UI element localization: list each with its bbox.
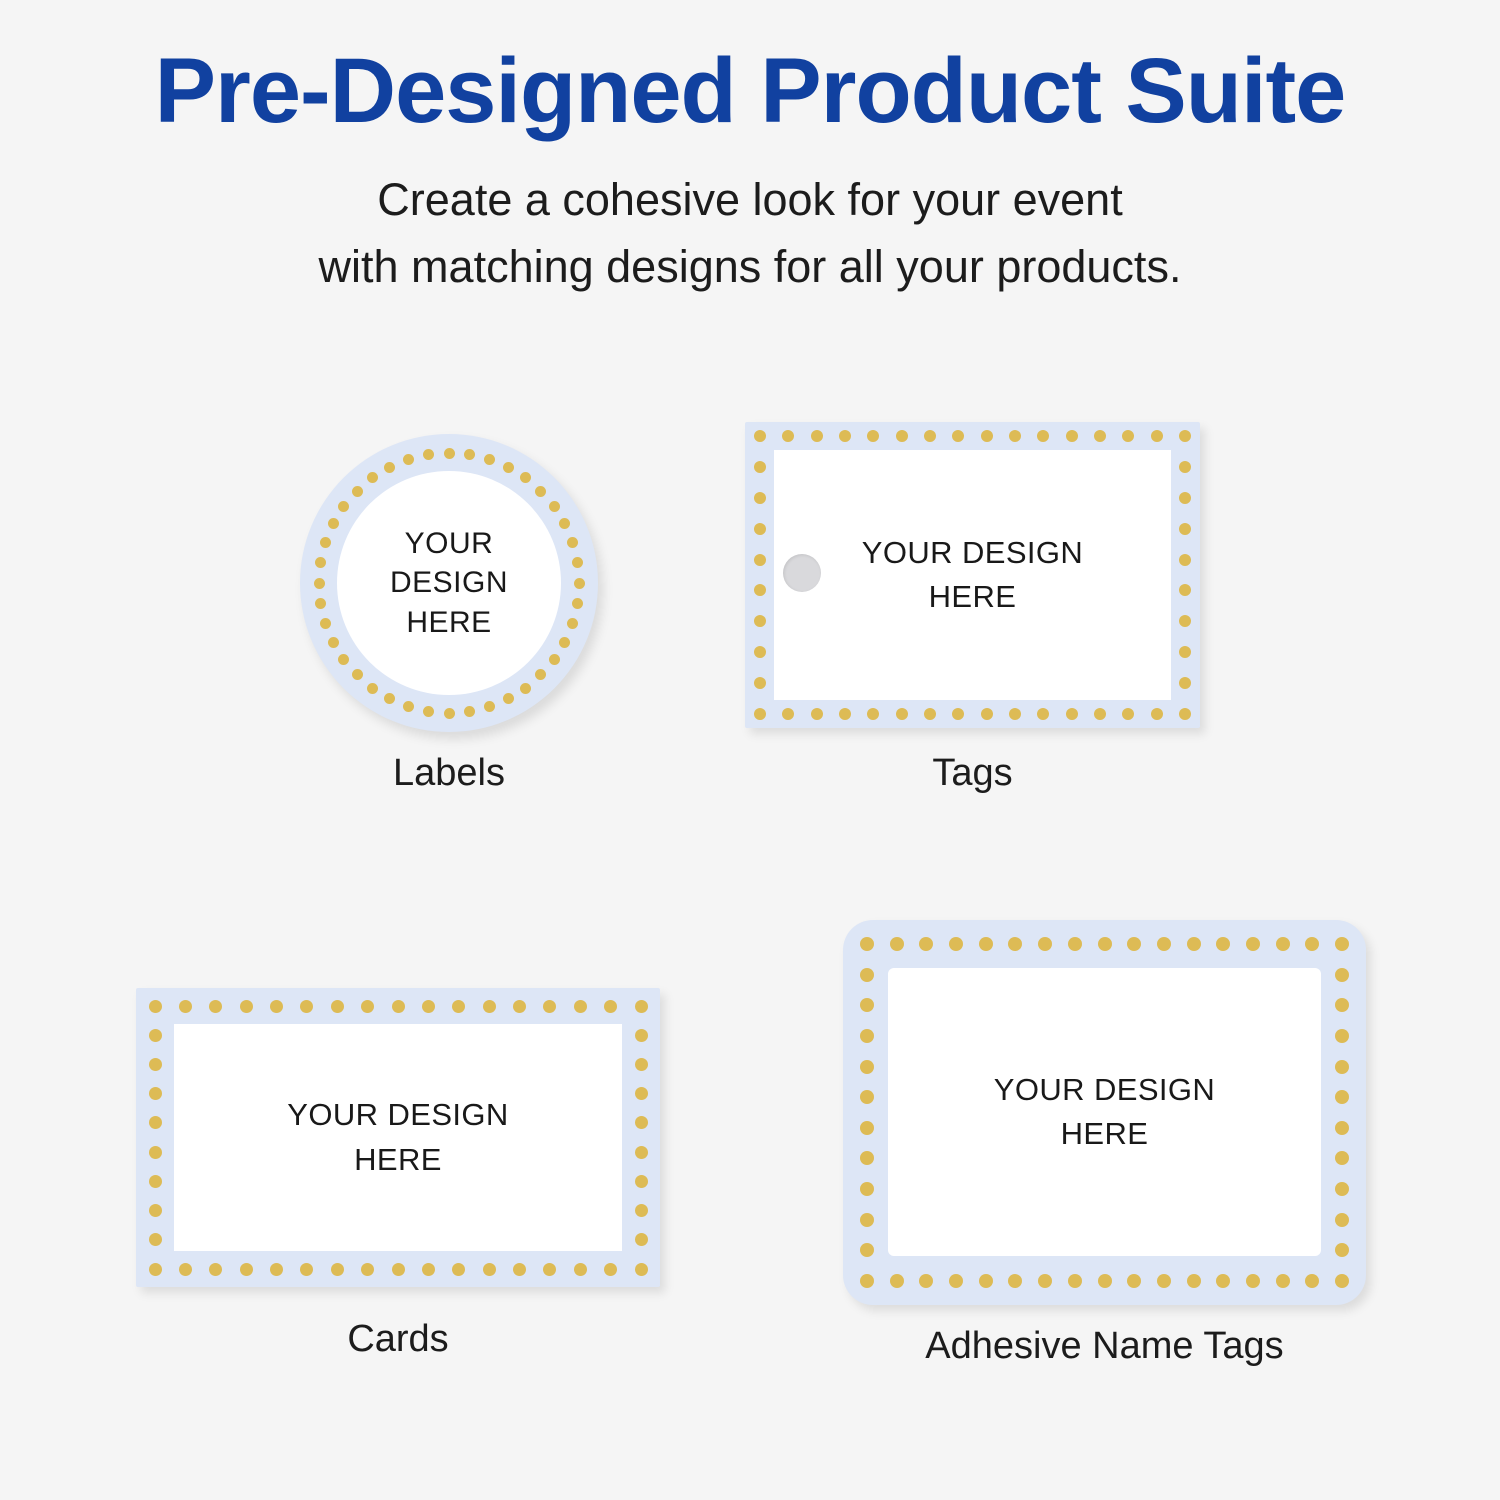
gold-dot-icon [361, 1263, 374, 1276]
gold-dot-icon [896, 430, 908, 442]
gold-dot-icon [1179, 492, 1191, 504]
gold-dot-icon [149, 1058, 162, 1071]
product-labels[interactable]: YOUR DESIGN HERE [300, 434, 598, 732]
gold-dot-icon [567, 618, 578, 629]
gold-dot-icon [1335, 937, 1349, 951]
gold-dot-icon [484, 454, 495, 465]
gold-dot-icon [1179, 461, 1191, 473]
gold-dot-icon [604, 1000, 617, 1013]
gold-dot-icon [574, 1263, 587, 1276]
gold-dot-icon [543, 1000, 556, 1013]
gold-dot-icon [754, 461, 766, 473]
gold-dot-icon [860, 1121, 874, 1135]
gold-dot-icon [811, 430, 823, 442]
gold-dot-icon [754, 677, 766, 689]
gold-dot-icon [979, 1274, 993, 1288]
gold-dot-icon [464, 706, 475, 717]
gold-dot-icon [1094, 708, 1106, 720]
gold-dot-icon [1098, 937, 1112, 951]
gold-dot-icon [1335, 1060, 1349, 1074]
gold-dot-icon [149, 1146, 162, 1159]
gold-dot-icon [300, 1263, 313, 1276]
gold-dot-icon [452, 1263, 465, 1276]
gold-dot-icon [444, 448, 455, 459]
gold-dot-icon [635, 1263, 648, 1276]
gold-dot-icon [392, 1263, 405, 1276]
gold-dot-icon [513, 1000, 526, 1013]
caption-adhesive-name-tags: Adhesive Name Tags [843, 1325, 1366, 1368]
gold-dot-icon [572, 598, 583, 609]
gold-dot-icon [1009, 708, 1021, 720]
gold-dot-icon [754, 430, 766, 442]
gold-dot-icon [1246, 1274, 1260, 1288]
gold-dot-icon [1009, 430, 1021, 442]
gold-dot-icon [890, 937, 904, 951]
labels-design-line-1: YOUR [405, 524, 494, 564]
gold-dot-icon [572, 557, 583, 568]
gold-dot-icon [209, 1000, 222, 1013]
gold-dot-icon [1187, 1274, 1201, 1288]
gold-dot-icon [392, 1000, 405, 1013]
product-showcase: YOUR DESIGN HERE Labels YOUR DESIGN HERE… [0, 0, 1500, 1500]
gold-dot-icon [979, 937, 993, 951]
gold-dot-icon [754, 492, 766, 504]
gold-dot-icon [635, 1233, 648, 1246]
tags-design-line-2: HERE [929, 575, 1017, 619]
nametags-design-line-1: YOUR DESIGN [994, 1068, 1215, 1112]
gold-dot-icon [483, 1263, 496, 1276]
gold-dot-icon [811, 708, 823, 720]
product-adhesive-name-tags[interactable]: YOUR DESIGN HERE [843, 920, 1366, 1305]
gold-dot-icon [1151, 708, 1163, 720]
gold-dot-icon [464, 449, 475, 460]
gold-dot-icon [1066, 430, 1078, 442]
gold-dot-icon [1179, 523, 1191, 535]
cards-design-placeholder: YOUR DESIGN HERE [174, 1024, 622, 1251]
gold-dot-icon [635, 1116, 648, 1129]
gold-dot-icon [839, 430, 851, 442]
gold-dot-icon [149, 1029, 162, 1042]
gold-dot-icon [1157, 937, 1171, 951]
gold-dot-icon [924, 708, 936, 720]
gold-dot-icon [1335, 1182, 1349, 1196]
gold-dot-icon [1179, 708, 1191, 720]
gold-dot-icon [1335, 1274, 1349, 1288]
gold-dot-icon [149, 1204, 162, 1217]
gold-dot-icon [949, 937, 963, 951]
gold-dot-icon [1179, 554, 1191, 566]
gold-dot-icon [149, 1263, 162, 1276]
gold-dot-icon [1335, 1121, 1349, 1135]
gold-dot-icon [635, 1058, 648, 1071]
tags-design-placeholder: YOUR DESIGN HERE [774, 450, 1171, 700]
gold-dot-icon [331, 1263, 344, 1276]
gold-dot-icon [1276, 937, 1290, 951]
gold-dot-icon [240, 1000, 253, 1013]
cards-design-line-2: HERE [354, 1138, 442, 1182]
gold-dot-icon [896, 708, 908, 720]
gold-dot-icon [1068, 1274, 1082, 1288]
gold-dot-icon [452, 1000, 465, 1013]
gold-dot-icon [635, 1146, 648, 1159]
gold-dot-icon [1276, 1274, 1290, 1288]
gold-dot-icon [860, 1182, 874, 1196]
product-cards[interactable]: YOUR DESIGN HERE [136, 988, 660, 1287]
gold-dot-icon [149, 1233, 162, 1246]
nametags-design-placeholder: YOUR DESIGN HERE [888, 968, 1321, 1256]
gold-dot-icon [981, 430, 993, 442]
gold-dot-icon [149, 1116, 162, 1129]
gold-dot-icon [1179, 677, 1191, 689]
gold-dot-icon [635, 1204, 648, 1217]
gold-dot-icon [924, 430, 936, 442]
caption-cards: Cards [136, 1318, 660, 1361]
gold-dot-icon [1151, 430, 1163, 442]
gold-dot-icon [890, 1274, 904, 1288]
gold-dot-icon [604, 1263, 617, 1276]
gold-dot-icon [179, 1263, 192, 1276]
gold-dot-icon [754, 554, 766, 566]
gold-dot-icon [179, 1000, 192, 1013]
gold-dot-icon [1179, 430, 1191, 442]
caption-tags: Tags [745, 752, 1200, 795]
gold-dot-icon [635, 1087, 648, 1100]
gold-dot-icon [1246, 937, 1260, 951]
gold-dot-icon [1094, 430, 1106, 442]
gold-dot-icon [1066, 708, 1078, 720]
gold-dot-icon [754, 523, 766, 535]
gold-dot-icon [1335, 1029, 1349, 1043]
gold-dot-icon [484, 701, 495, 712]
gold-dot-icon [209, 1263, 222, 1276]
gold-dot-icon [513, 1263, 526, 1276]
gold-dot-icon [300, 1000, 313, 1013]
gold-dot-icon [149, 1175, 162, 1188]
labels-design-line-2: DESIGN [390, 563, 508, 603]
gold-dot-icon [315, 598, 326, 609]
gold-dot-icon [314, 578, 325, 589]
gold-dot-icon [270, 1263, 283, 1276]
gold-dot-icon [422, 1263, 435, 1276]
gold-dot-icon [1068, 937, 1082, 951]
gold-dot-icon [860, 937, 874, 951]
gold-dot-icon [543, 1263, 556, 1276]
gold-dot-icon [422, 1000, 435, 1013]
gold-dot-icon [635, 1000, 648, 1013]
gold-dot-icon [240, 1263, 253, 1276]
labels-design-placeholder: YOUR DESIGN HERE [337, 471, 561, 695]
gold-dot-icon [361, 1000, 374, 1013]
gold-dot-icon [949, 1274, 963, 1288]
gold-dot-icon [635, 1175, 648, 1188]
gold-dot-icon [574, 578, 585, 589]
gold-dot-icon [754, 708, 766, 720]
gold-dot-icon [574, 1000, 587, 1013]
gold-dot-icon [1335, 968, 1349, 982]
gold-dot-icon [860, 1029, 874, 1043]
gold-dot-icon [860, 968, 874, 982]
product-tags[interactable]: YOUR DESIGN HERE [745, 422, 1200, 728]
gold-dot-icon [1098, 1274, 1112, 1288]
gold-dot-icon [149, 1000, 162, 1013]
gold-dot-icon [423, 706, 434, 717]
tags-design-line-1: YOUR DESIGN [862, 531, 1083, 575]
gold-dot-icon [860, 1060, 874, 1074]
gold-dot-icon [981, 708, 993, 720]
gold-dot-icon [331, 1000, 344, 1013]
cards-design-line-1: YOUR DESIGN [287, 1093, 508, 1137]
labels-design-line-3: HERE [406, 603, 491, 643]
caption-labels: Labels [300, 752, 598, 795]
gold-dot-icon [444, 708, 455, 719]
gold-dot-icon [1157, 1274, 1171, 1288]
gold-dot-icon [270, 1000, 283, 1013]
gold-dot-icon [149, 1087, 162, 1100]
gold-dot-icon [839, 708, 851, 720]
gold-dot-icon [320, 618, 331, 629]
nametags-design-line-2: HERE [1061, 1112, 1149, 1156]
gold-dot-icon [1187, 937, 1201, 951]
gold-dot-icon [635, 1029, 648, 1042]
gold-dot-icon [860, 1274, 874, 1288]
gold-dot-icon [1335, 1213, 1349, 1227]
gold-dot-icon [860, 1213, 874, 1227]
gold-dot-icon [483, 1000, 496, 1013]
